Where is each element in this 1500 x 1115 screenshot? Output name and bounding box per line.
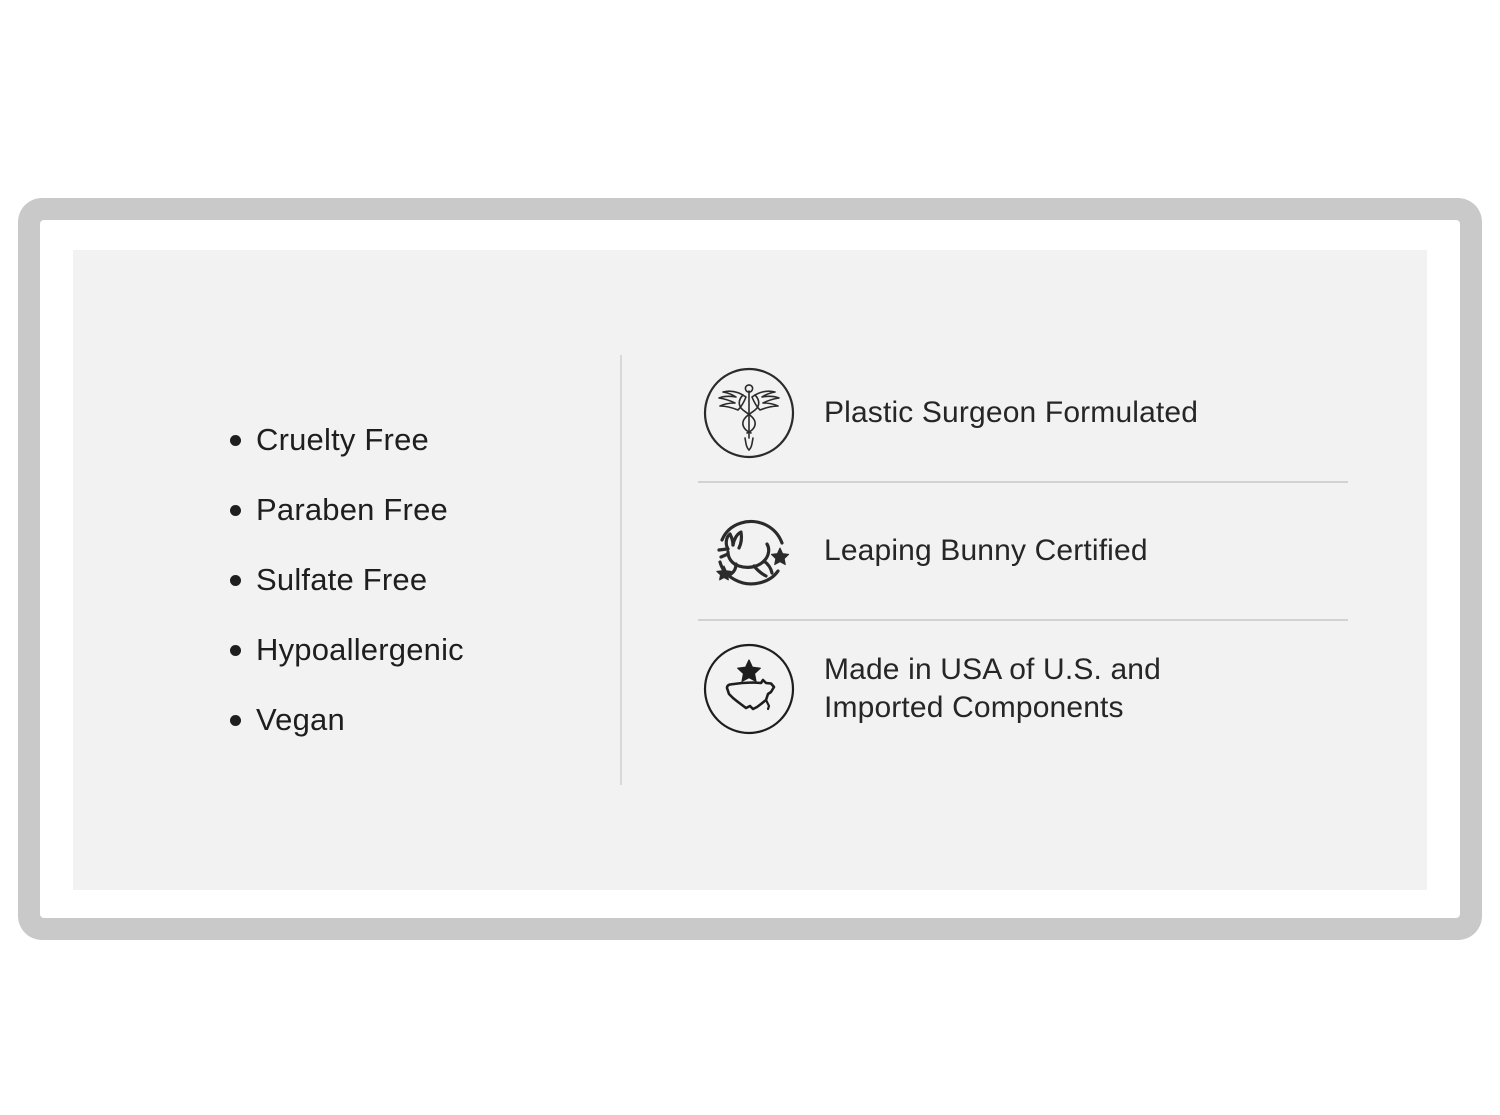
bullet-icon [230,645,241,656]
badge-row: Plastic Surgeon Formulated [698,345,1358,481]
list-item: Hypoallergenic [230,615,610,685]
leaping-bunny-icon [698,500,800,602]
bullet-icon [230,505,241,516]
claim-label: Hypoallergenic [256,632,464,668]
usa-map-star-icon [698,638,800,740]
claim-label: Cruelty Free [256,422,429,458]
list-item: Cruelty Free [230,405,610,475]
badge-label: Plastic Surgeon Formulated [824,394,1198,432]
badge-row: Made in USA of U.S. and Imported Compone… [698,621,1358,757]
badge-label: Made in USA of U.S. and Imported Compone… [824,651,1161,728]
bullet-icon [230,435,241,446]
caduceus-icon [698,362,800,464]
list-item: Sulfate Free [230,545,610,615]
claim-label: Sulfate Free [256,562,427,598]
claim-label: Vegan [256,702,345,738]
badge-label: Leaping Bunny Certified [824,532,1148,570]
badge-row: Leaping Bunny Certified [698,483,1358,619]
claims-panel: Cruelty Free Paraben Free Sulfate Free H… [73,250,1427,890]
claim-label: Paraben Free [256,492,448,528]
bullet-icon [230,575,241,586]
list-item: Vegan [230,685,610,755]
certification-badges: Plastic Surgeon Formulated [698,345,1358,757]
claims-list: Cruelty Free Paraben Free Sulfate Free H… [230,405,610,755]
list-item: Paraben Free [230,475,610,545]
bullet-icon [230,715,241,726]
vertical-divider [620,355,622,785]
